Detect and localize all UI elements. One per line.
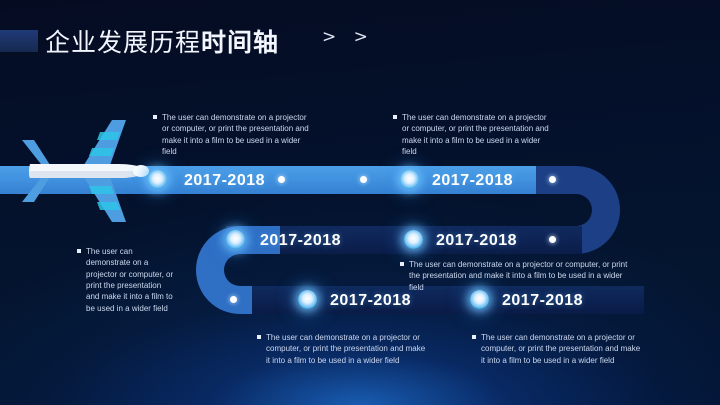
milestone-node-3[interactable] [226, 230, 245, 249]
milestone-description-text: The user can demonstrate on a projector … [472, 332, 644, 366]
timeline-dot-2 [360, 176, 367, 183]
page-title-normal: 企业发展历程 [45, 29, 201, 57]
bullet-icon [400, 262, 404, 266]
milestone-description-6: The user can demonstrate on a projector … [472, 332, 644, 366]
slide-header: 企业发展历程时间轴 > > [0, 27, 720, 57]
bullet-icon [153, 115, 157, 119]
airplane-icon [8, 118, 158, 228]
milestone-description-text: The user can demonstrate on a projector … [400, 259, 632, 293]
milestone-year-5: 2017-2018 [330, 292, 411, 310]
milestone-description-text: The user can demonstrate on a projector … [77, 246, 174, 314]
milestone-year-4: 2017-2018 [436, 232, 517, 250]
timeline-dot-5 [230, 296, 237, 303]
slide-canvas: 企业发展历程时间轴 > > [0, 0, 720, 405]
milestone-node-2[interactable] [400, 170, 419, 189]
milestone-description-text: The user can demonstrate on a projector … [393, 112, 551, 157]
milestone-year-1: 2017-2018 [184, 172, 265, 190]
page-title: 企业发展历程时间轴 [45, 23, 279, 59]
bullet-icon [77, 249, 81, 253]
page-title-emphasis: 时间轴 [201, 29, 279, 57]
header-accent-block [0, 30, 38, 52]
bullet-icon [472, 335, 476, 339]
timeline-dot-4 [549, 236, 556, 243]
chevron-right-icon: > > [322, 27, 374, 47]
bullet-icon [393, 115, 397, 119]
bullet-icon [257, 335, 261, 339]
milestone-year-3: 2017-2018 [260, 232, 341, 250]
milestone-description-2: The user can demonstrate on a projector … [393, 112, 551, 157]
timeline-dot-1 [278, 176, 285, 183]
milestone-year-6: 2017-2018 [502, 292, 583, 310]
milestone-description-3: The user can demonstrate on a projector … [77, 246, 174, 314]
timeline-dot-3 [549, 176, 556, 183]
milestone-description-5: The user can demonstrate on a projector … [257, 332, 429, 366]
milestone-node-5[interactable] [298, 290, 317, 309]
milestone-node-4[interactable] [404, 230, 423, 249]
milestone-description-text: The user can demonstrate on a projector … [153, 112, 311, 157]
milestone-year-2: 2017-2018 [432, 172, 513, 190]
milestone-description-4: The user can demonstrate on a projector … [400, 259, 632, 293]
milestone-description-1: The user can demonstrate on a projector … [153, 112, 311, 157]
milestone-description-text: The user can demonstrate on a projector … [257, 332, 429, 366]
milestone-node-1[interactable] [148, 170, 167, 189]
